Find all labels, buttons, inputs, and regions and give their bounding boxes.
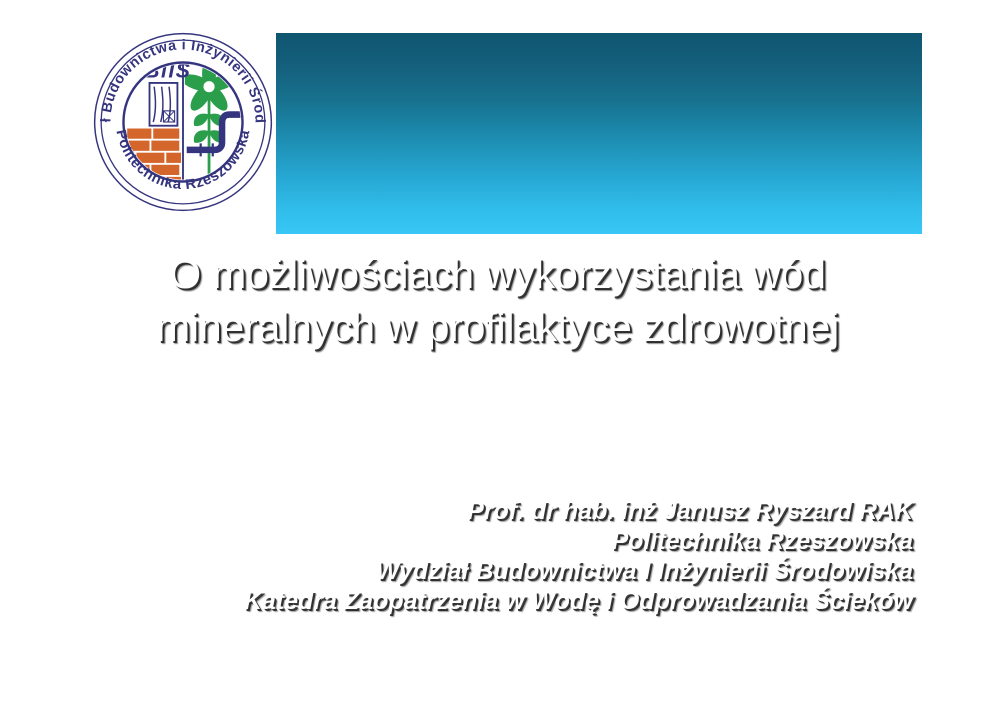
slide-title: O możliwościach wykorzystania wód minera… [73,248,922,354]
title-line-1: O możliwościach wykorzystania wód [73,248,922,301]
presentation-slide: Wydział Budownictwa i Inżynierii Środowi… [0,0,992,701]
logo-container: Wydział Budownictwa i Inżynierii Środowi… [73,0,276,234]
author-department: Katedra Zaopatrzenia w Wodę i Odprowadza… [73,586,913,616]
author-faculty: Wydział Budownictwa I Inżynierii Środowi… [73,556,913,586]
author-affiliation-block: Prof. dr hab. inż Janusz Ryszard RAK Pol… [73,496,922,616]
wbiis-logo-icon: Wydział Budownictwa i Inżynierii Środowi… [90,29,276,215]
header-gradient-panel [276,33,922,234]
author-university: Politechnika Rzeszowska [73,526,913,556]
author-name: Prof. dr hab. inż Janusz Ryszard RAK [73,496,913,526]
title-line-2: mineralnych w profilaktyce zdrowotnej [73,301,922,354]
